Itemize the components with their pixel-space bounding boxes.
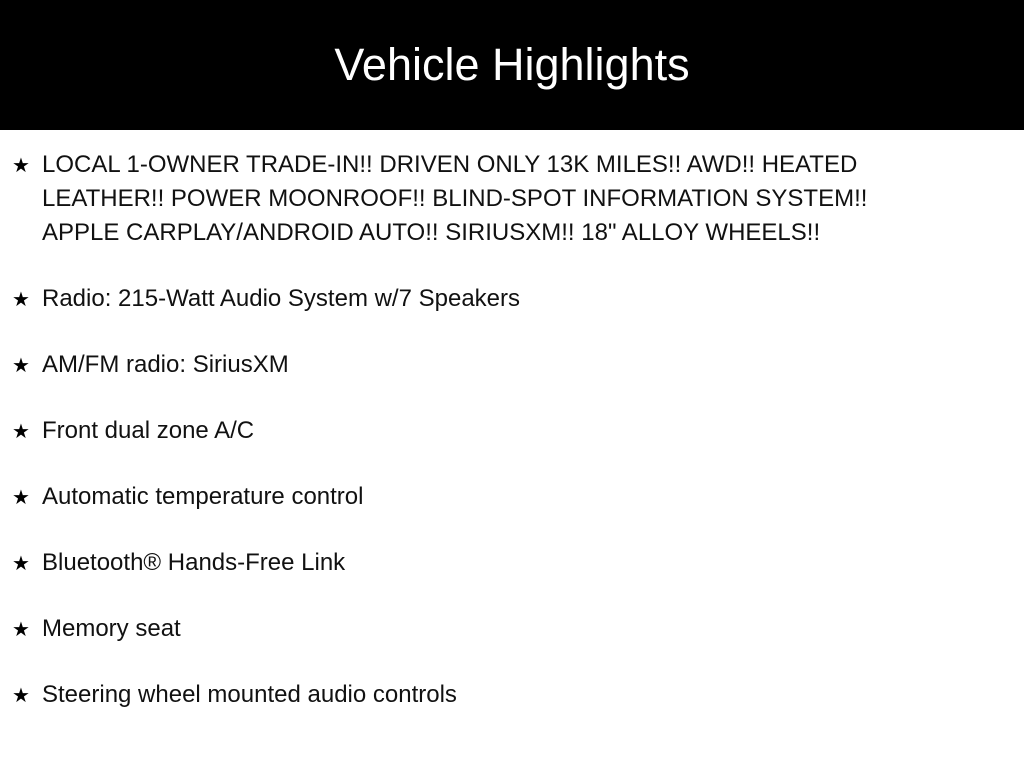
page-header-band: Vehicle Highlights [0, 0, 1024, 130]
list-item: ★ LOCAL 1-OWNER TRADE-IN!! DRIVEN ONLY 1… [0, 130, 1024, 250]
list-item-label: LOCAL 1-OWNER TRADE-IN!! DRIVEN ONLY 13K… [42, 148, 942, 250]
page-title: Vehicle Highlights [334, 42, 689, 87]
list-item: ★ Automatic temperature control [0, 448, 1024, 514]
vehicle-highlights-list: ★ LOCAL 1-OWNER TRADE-IN!! DRIVEN ONLY 1… [0, 130, 1024, 712]
list-item-label: Front dual zone A/C [42, 414, 942, 448]
list-item: ★ Steering wheel mounted audio controls [0, 646, 1024, 712]
vehicle-highlights-page: Vehicle Highlights ★ LOCAL 1-OWNER TRADE… [0, 0, 1024, 768]
list-item: ★ Bluetooth® Hands-Free Link [0, 514, 1024, 580]
list-item: ★ Memory seat [0, 580, 1024, 646]
star-bullet-icon: ★ [12, 348, 42, 382]
list-item: ★ AM/FM radio: SiriusXM [0, 316, 1024, 382]
star-bullet-icon: ★ [12, 546, 42, 580]
star-bullet-icon: ★ [12, 480, 42, 514]
list-item-label: Bluetooth® Hands-Free Link [42, 546, 942, 580]
list-item-label: Automatic temperature control [42, 480, 942, 514]
list-item: ★ Front dual zone A/C [0, 382, 1024, 448]
star-bullet-icon: ★ [12, 678, 42, 712]
star-bullet-icon: ★ [12, 612, 42, 646]
list-item: ★ Radio: 215-Watt Audio System w/7 Speak… [0, 250, 1024, 316]
list-item-label: Memory seat [42, 612, 942, 646]
star-bullet-icon: ★ [12, 282, 42, 316]
star-bullet-icon: ★ [12, 148, 42, 182]
star-bullet-icon: ★ [12, 414, 42, 448]
list-item-label: Steering wheel mounted audio controls [42, 678, 942, 712]
list-item-label: AM/FM radio: SiriusXM [42, 348, 942, 382]
list-item-label: Radio: 215-Watt Audio System w/7 Speaker… [42, 282, 942, 316]
